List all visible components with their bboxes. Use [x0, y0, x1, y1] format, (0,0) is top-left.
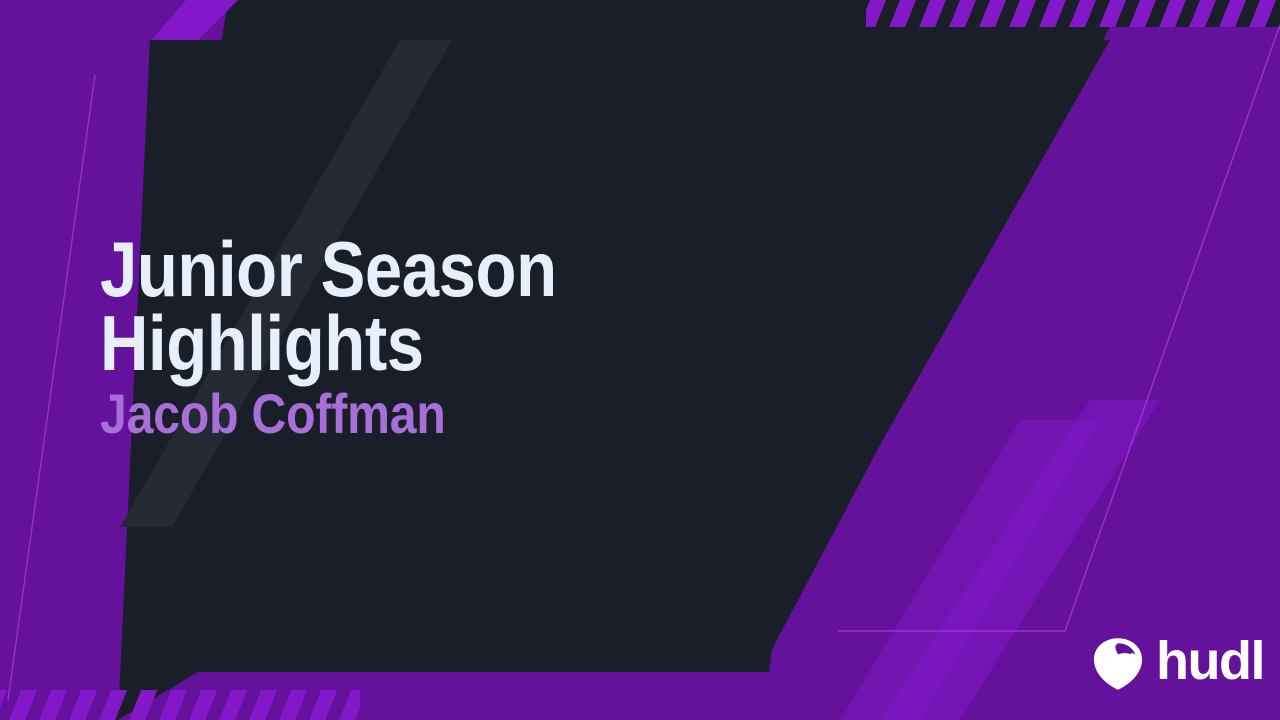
title-line-1: Junior Season: [100, 232, 650, 306]
hudl-logo: hudl: [1090, 636, 1264, 692]
highlight-title-card: Junior Season Highlights Jacob Coffman h…: [0, 0, 1280, 720]
hudl-shield-icon: [1090, 636, 1146, 692]
subject-name: Jacob Coffman: [100, 386, 650, 442]
title-text-block: Junior Season Highlights Jacob Coffman: [100, 232, 740, 442]
title-line-2: Highlights: [100, 306, 650, 380]
hudl-wordmark: hudl: [1156, 634, 1264, 688]
